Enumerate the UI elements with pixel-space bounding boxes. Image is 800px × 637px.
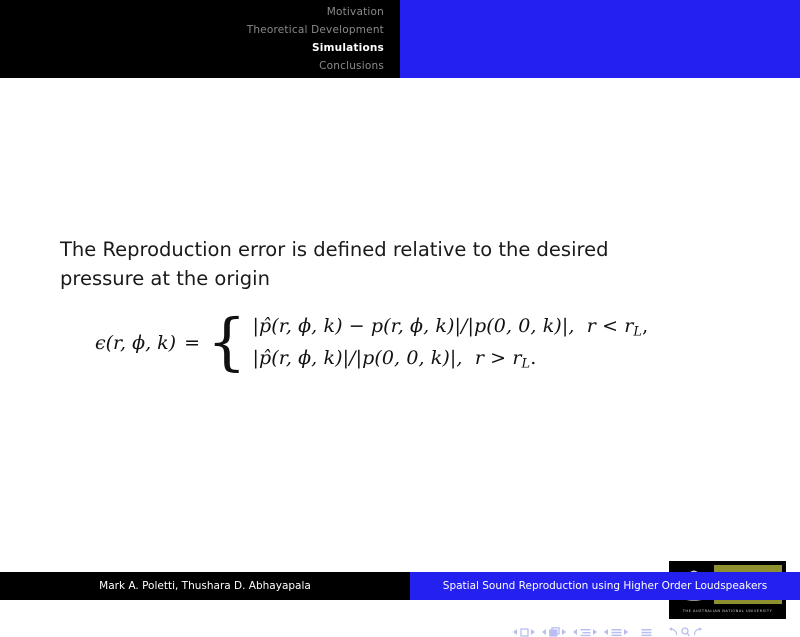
next-subsection-icon[interactable] xyxy=(593,629,597,635)
equation-cases-brace: { xyxy=(207,320,252,365)
equation-case-2-condition-text: r > r xyxy=(475,347,522,369)
body-paragraph: The Reproduction error is defined relati… xyxy=(60,235,690,293)
forward-icon[interactable] xyxy=(693,627,704,637)
section-navigation-group[interactable] xyxy=(604,628,628,637)
header-black-panel: Motivation Theoretical Development Simul… xyxy=(0,0,400,78)
slide-footer: Mark A. Poletti, Thushara D. Abhayapala … xyxy=(0,572,800,600)
frame-navigation-group[interactable] xyxy=(542,627,566,637)
equation-left-hand-side: ϵ(r, ϕ, k) xyxy=(95,332,182,354)
search-icon[interactable] xyxy=(681,627,690,637)
equation-case-1-condition-subscript: L xyxy=(633,325,642,340)
nav-item-conclusions[interactable]: Conclusions xyxy=(319,58,384,75)
equation-case-1-condition-tail: , xyxy=(642,315,648,337)
back-find-forward-group[interactable] xyxy=(667,627,704,637)
slide-icon[interactable] xyxy=(520,628,529,637)
footer-authors: Mark A. Poletti, Thushara D. Abhayapala xyxy=(0,572,410,600)
equation-equals-sign: = xyxy=(182,332,207,354)
beginning-of-presentation-icon[interactable] xyxy=(641,628,652,637)
previous-subsection-icon[interactable] xyxy=(573,629,577,635)
equation-cases: |p̂(r, ϕ, k) − p(r, ϕ, k)|/|p(0, 0, k)|,… xyxy=(252,315,648,371)
subsection-icon[interactable] xyxy=(580,628,591,637)
previous-section-icon[interactable] xyxy=(604,629,608,635)
section-navigation: Motivation Theoretical Development Simul… xyxy=(247,4,384,75)
section-icon[interactable] xyxy=(611,628,622,637)
slide-header: Motivation Theoretical Development Simul… xyxy=(0,0,800,78)
footer-title: Spatial Sound Reproduction using Higher … xyxy=(410,572,800,600)
equation-case-1: |p̂(r, ϕ, k) − p(r, ϕ, k)|/|p(0, 0, k)|,… xyxy=(252,315,648,340)
frame-icon[interactable] xyxy=(549,627,560,637)
presentation-navigation-group[interactable] xyxy=(641,628,652,637)
anu-tagline: THE AUSTRALIAN NATIONAL UNIVERSITY xyxy=(673,607,782,615)
back-icon[interactable] xyxy=(667,627,678,637)
beamer-navigation-symbols xyxy=(513,627,704,637)
subsection-navigation-group[interactable] xyxy=(573,628,597,637)
nav-item-theoretical-development[interactable]: Theoretical Development xyxy=(247,22,384,39)
equation-case-2-condition: r > rL. xyxy=(469,347,537,369)
next-slide-icon[interactable] xyxy=(531,629,535,635)
equation-case-2-expression: |p̂(r, ϕ, k)|/|p(0, 0, k)|, xyxy=(252,347,462,369)
nav-item-motivation[interactable]: Motivation xyxy=(327,4,384,21)
nav-item-simulations[interactable]: Simulations xyxy=(312,40,384,57)
next-section-icon[interactable] xyxy=(624,629,628,635)
slide-content: The Reproduction error is defined relati… xyxy=(0,78,800,572)
equation-case-2: |p̂(r, ϕ, k)|/|p(0, 0, k)|, r > rL. xyxy=(252,347,648,372)
previous-slide-icon[interactable] xyxy=(513,629,517,635)
equation-case-1-condition: r < rL, xyxy=(581,315,649,337)
reproduction-error-equation: ϵ(r, ϕ, k) = { |p̂(r, ϕ, k) − p(r, ϕ, k)… xyxy=(95,315,648,371)
previous-frame-icon[interactable] xyxy=(542,629,546,635)
equation-case-2-condition-tail: . xyxy=(530,347,536,369)
header-blue-panel xyxy=(400,0,800,78)
equation-case-1-expression: |p̂(r, ϕ, k) − p(r, ϕ, k)|/|p(0, 0, k)|, xyxy=(252,315,574,337)
slide-navigation-group[interactable] xyxy=(513,628,535,637)
slide: Motivation Theoretical Development Simul… xyxy=(0,0,800,600)
next-frame-icon[interactable] xyxy=(562,629,566,635)
equation-case-2-condition-subscript: L xyxy=(522,356,531,371)
equation-case-1-condition-text: r < r xyxy=(587,315,634,337)
